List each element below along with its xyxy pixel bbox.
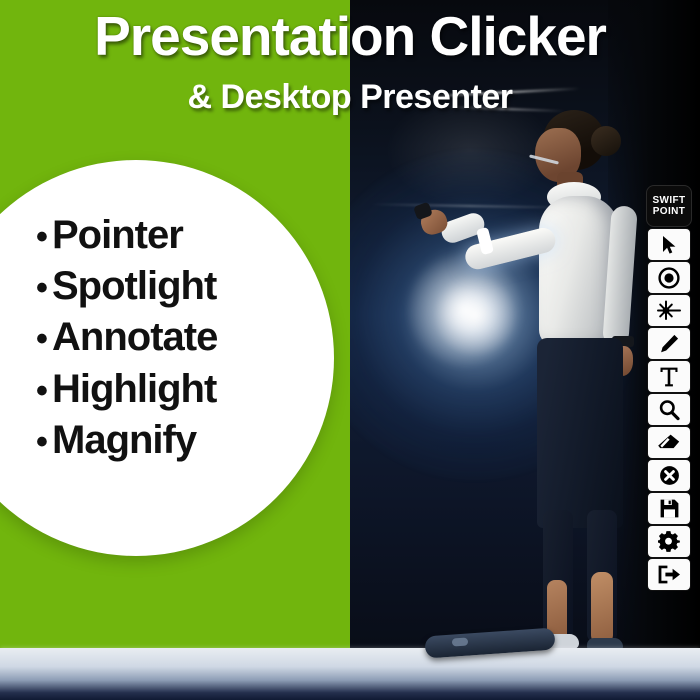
bullet-icon: • [36,374,52,408]
list-item: • Magnify [36,415,306,466]
tool-button-magnify[interactable] [647,393,691,426]
brand-line-1: SWIFT [652,195,685,206]
tool-button-annotate[interactable] [647,327,691,360]
bullet-icon: • [36,322,52,356]
tool-button-text[interactable] [647,360,691,393]
feature-label: Highlight [52,364,216,415]
tool-button-pointer[interactable] [647,228,691,261]
feature-label: Pointer [52,210,183,261]
x-circle-icon [659,465,680,486]
feature-label: Annotate [52,312,217,363]
swiftpoint-logo: SWIFT POINT [647,186,691,226]
brand-line-2: POINT [653,206,686,217]
list-item: • Annotate [36,312,306,363]
bullet-icon: • [36,271,52,305]
feature-label: Magnify [52,415,196,466]
list-item: • Highlight [36,364,306,415]
tool-button-laser[interactable] [647,294,691,327]
bullet-icon: • [36,220,52,254]
tool-button-clear[interactable] [647,459,691,492]
page-subtitle: & Desktop Presenter [0,78,700,117]
pencil-icon [658,333,680,355]
page-title: Presentation Clicker [0,8,700,65]
bullet-icon: • [36,425,52,459]
tool-button-exit[interactable] [647,558,691,591]
tool-button-spotlight[interactable] [647,261,691,294]
tool-button-settings[interactable] [647,525,691,558]
promo-banner: Presentation Clicker & Desktop Presenter… [0,0,700,700]
feature-label: Spotlight [52,261,216,312]
tool-button-erase[interactable] [647,426,691,459]
tool-palette: SWIFT POINT [646,186,692,591]
gear-icon [658,531,680,553]
magnifier-icon [658,399,680,421]
list-item: • Spotlight [36,261,306,312]
feature-list: • Pointer • Spotlight • Annotate • Highl… [36,210,306,466]
tool-button-save[interactable] [647,492,691,525]
laser-burst-icon [657,300,681,322]
cursor-arrow-icon [661,235,678,255]
stage-floor [0,648,700,700]
floppy-save-icon [659,498,680,519]
text-t-icon [659,366,679,388]
list-item: • Pointer [36,210,306,261]
eraser-icon [657,433,681,453]
spotlight-icon [658,267,680,289]
floor-device-highlight [452,637,469,646]
exit-arrow-icon [657,564,681,585]
